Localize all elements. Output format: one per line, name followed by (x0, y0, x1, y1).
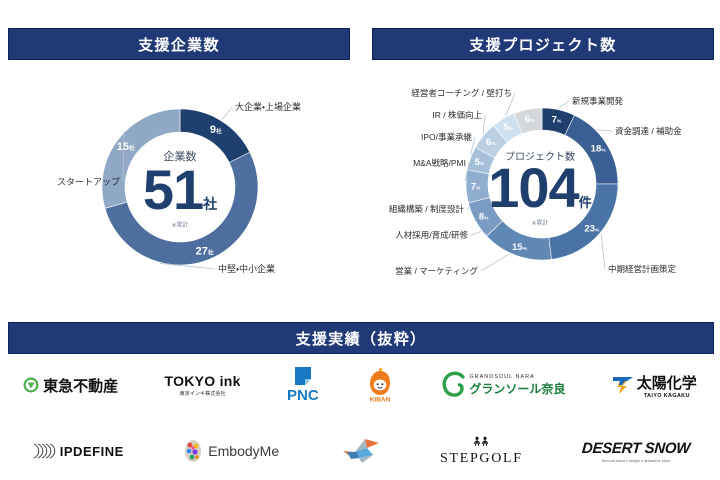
section-header-companies: 支援企業数 (8, 28, 350, 60)
slice-label-4: 人材採用/育成/研修 (395, 230, 468, 240)
client-name-embodyme: EmbodyMe (208, 443, 279, 459)
client-name-tokyu-fudosan: 東急不動産 (43, 375, 118, 396)
slice-label-8: IR / 株価向上 (432, 110, 482, 120)
projects-donut-chart: 7%18%23%15%8%7%5%6%5%6% 新規事業開発資金調達 / 補助金… (360, 62, 720, 312)
svg-text:KIBAN: KIBAN (370, 397, 391, 404)
pnc-blue-square-icon (292, 366, 314, 386)
section-header-clients: 支援実績（抜粋） (8, 322, 714, 354)
slice-label-0: 新規事業開発 (572, 96, 624, 106)
client-name-pnc: PNC (287, 387, 319, 404)
slice-label-2: 中期経営計画策定 (608, 264, 677, 274)
green-circle-logo-icon (23, 377, 39, 393)
client-name-ipdefine: IPDEFINE (60, 444, 124, 459)
slice-label-9: 経営者コーチング / 壁打ち (411, 88, 512, 98)
client-sub-tokyo-ink: 東京インキ株式会社 (180, 390, 226, 397)
section-header-companies-label: 支援企業数 (138, 34, 220, 55)
slide-root: 支援企業数 支援プロジェクト数 支援実績（抜粋） 9社27社15社 大企業・上場… (0, 0, 720, 480)
client-logo-row-1: 東急不動産 TOKYO ink 東京インキ株式会社 PNC (0, 356, 720, 414)
client-logos: 東急不動産 TOKYO ink 東京インキ株式会社 PNC (0, 356, 720, 480)
stepgolf-figures-icon (470, 436, 492, 450)
client-logo-tokyu-fudosan: 東急不動産 (23, 360, 118, 410)
client-logo-stepgolf: STEPGOLF (440, 426, 523, 476)
client-logo-grandsoul-nara: GRANDSOUL NARA グランソール奈良 (441, 360, 565, 410)
slice-label-7: IPO/事業承継 (421, 132, 473, 142)
slice-label-1: 資金調達 / 補助金 (615, 126, 682, 136)
origami-bird-icon (339, 436, 381, 466)
slice-label-1: 中堅・中小企業 (218, 263, 275, 274)
client-logo-tokyo-ink: TOKYO ink 東京インキ株式会社 (165, 360, 241, 410)
slice-label-5: 組織構築 / 制度設計 (389, 204, 465, 214)
slice-label-3: 営業 / マーケティング (395, 266, 478, 276)
section-header-clients-label: 支援実績（抜粋） (296, 328, 427, 349)
client-logo-taiyo-kagaku: 太陽化学 TAIYO KAGAKU (612, 360, 697, 410)
slice-label-6: M&A戦略/PMI (413, 158, 466, 168)
section-header-projects-label: 支援プロジェクト数 (469, 34, 616, 55)
client-sub-desert-snow: Second hand x image x attractive store (602, 459, 671, 463)
projects-donut-svg: 7%18%23%15%8%7%5%6%5%6% 新規事業開発資金調達 / 補助金… (360, 62, 720, 312)
taiyo-kagaku-mark-icon (612, 374, 634, 396)
client-name-tokyo-ink: TOKYO ink (165, 373, 241, 389)
client-name-desert-snow: DESERT SNOW (582, 440, 691, 457)
ipdefine-arcs-icon (30, 442, 56, 460)
slice-label-2: スタートアップ (57, 177, 120, 187)
client-logo-bird (339, 426, 381, 476)
client-logo-pnc: PNC (287, 360, 319, 410)
client-logo-desert-snow: DESERT SNOW Second hand x image x attrac… (582, 426, 690, 476)
client-logo-orange-mascot: KIBAN (365, 360, 395, 410)
client-logo-row-2: IPDEFINE EmbodyMe (0, 422, 720, 480)
companies-donut-chart: 9社27社15社 大企業・上場企業中堅・中小企業スタートアップ 企業数 51社 … (0, 62, 360, 312)
companies-donut-svg: 9社27社15社 大企業・上場企業中堅・中小企業スタートアップ (0, 62, 360, 312)
orange-mascot-icon: KIBAN (365, 366, 395, 404)
client-sub-taiyo-kagaku: TAIYO KAGAKU (637, 393, 697, 399)
client-logo-ipdefine: IPDEFINE (30, 426, 124, 476)
section-header-projects: 支援プロジェクト数 (372, 28, 714, 60)
green-g-swoosh-icon (441, 370, 467, 400)
embodyme-dot-icon (183, 439, 203, 463)
client-name-stepgolf: STEPGOLF (440, 451, 523, 467)
client-logo-embodyme: EmbodyMe (183, 426, 279, 476)
slice-label-0: 大企業・上場企業 (235, 101, 301, 112)
client-name-grandsoul-nara: グランソール奈良 (469, 380, 565, 397)
client-name-taiyo-kagaku: 太陽化学 (637, 372, 697, 393)
